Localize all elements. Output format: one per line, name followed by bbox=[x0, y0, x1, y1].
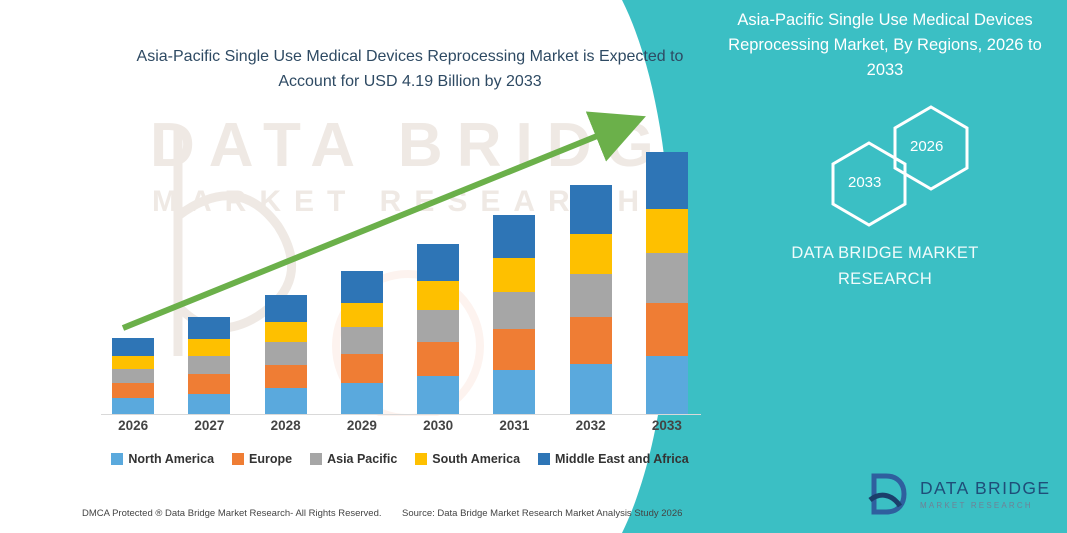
bar-segment bbox=[112, 398, 154, 415]
logo-name: DATA BRIDGE bbox=[920, 478, 1050, 499]
x-axis-label: 2031 bbox=[476, 418, 552, 433]
hexagon-2033-label: 2033 bbox=[848, 174, 881, 191]
stacked-bar bbox=[493, 215, 535, 415]
legend-label: South America bbox=[432, 452, 520, 466]
hexagon-group: 2026 2033 bbox=[820, 105, 980, 205]
legend-swatch bbox=[538, 453, 550, 465]
bar-column bbox=[95, 338, 171, 415]
bar-segment bbox=[570, 185, 612, 234]
bar-segment bbox=[265, 365, 307, 389]
bar-segment bbox=[188, 356, 230, 374]
bar-segment bbox=[188, 339, 230, 356]
bar-segment bbox=[188, 317, 230, 339]
bar-segment bbox=[341, 383, 383, 415]
x-axis-label: 2027 bbox=[171, 418, 247, 433]
data-bridge-logo: DATA BRIDGE MARKET RESEARCH bbox=[866, 472, 1050, 516]
bar-column bbox=[248, 295, 324, 415]
logo-tagline: MARKET RESEARCH bbox=[920, 501, 1050, 510]
legend-item[interactable]: Middle East and Africa bbox=[538, 452, 689, 466]
bar-segment bbox=[112, 369, 154, 383]
x-axis-label: 2033 bbox=[629, 418, 705, 433]
bar-segment bbox=[112, 383, 154, 398]
panel-brand-line2: RESEARCH bbox=[760, 270, 1010, 289]
footer-copyright: DMCA Protected ® Data Bridge Market Rese… bbox=[82, 508, 382, 519]
stacked-bar bbox=[188, 317, 230, 415]
stacked-bar bbox=[417, 244, 459, 415]
bar-segment bbox=[265, 342, 307, 364]
bar-segment bbox=[112, 356, 154, 369]
stacked-bar-chart bbox=[95, 110, 705, 415]
stacked-bar bbox=[265, 295, 307, 415]
panel-brand-line1: DATA BRIDGE MARKET bbox=[760, 244, 1010, 263]
bar-segment bbox=[493, 258, 535, 292]
bar-segment bbox=[417, 342, 459, 376]
bar-segment bbox=[265, 322, 307, 342]
bar-segment bbox=[646, 253, 688, 302]
bar-segment bbox=[570, 234, 612, 274]
chart-legend: North AmericaEuropeAsia PacificSouth Ame… bbox=[95, 452, 705, 466]
legend-swatch bbox=[232, 453, 244, 465]
stacked-bar bbox=[112, 338, 154, 415]
bar-segment bbox=[646, 209, 688, 254]
bar-segment bbox=[570, 364, 612, 415]
x-axis-label: 2026 bbox=[95, 418, 171, 433]
x-axis-label: 2030 bbox=[400, 418, 476, 433]
bar-segment bbox=[188, 374, 230, 393]
bar-column bbox=[400, 244, 476, 415]
bar-column bbox=[476, 215, 552, 415]
bar-segment bbox=[417, 244, 459, 281]
bar-segment bbox=[646, 303, 688, 357]
footer-source: Source: Data Bridge Market Research Mark… bbox=[402, 508, 682, 519]
legend-item[interactable]: Europe bbox=[232, 452, 292, 466]
bar-segment bbox=[493, 215, 535, 258]
logo-mark-icon bbox=[866, 472, 912, 516]
bar-segment bbox=[341, 271, 383, 303]
bar-column bbox=[324, 271, 400, 415]
bar-segment bbox=[417, 281, 459, 310]
x-axis-labels: 20262027202820292030203120322033 bbox=[95, 418, 705, 433]
bar-segment bbox=[265, 388, 307, 415]
legend-label: North America bbox=[128, 452, 214, 466]
legend-swatch bbox=[310, 453, 322, 465]
legend-label: Asia Pacific bbox=[327, 452, 397, 466]
x-axis-label: 2028 bbox=[248, 418, 324, 433]
x-axis-label: 2032 bbox=[553, 418, 629, 433]
bar-column bbox=[553, 185, 629, 415]
bar-segment bbox=[493, 329, 535, 370]
bar-segment bbox=[646, 152, 688, 209]
x-axis-label: 2029 bbox=[324, 418, 400, 433]
bar-segment bbox=[417, 376, 459, 415]
stacked-bar bbox=[570, 185, 612, 415]
legend-swatch bbox=[111, 453, 123, 465]
bar-column bbox=[629, 152, 705, 415]
legend-item[interactable]: Asia Pacific bbox=[310, 452, 397, 466]
bar-segment bbox=[417, 310, 459, 342]
x-axis-line bbox=[101, 414, 701, 415]
stacked-bar bbox=[646, 152, 688, 415]
bar-column bbox=[171, 317, 247, 415]
bar-segment bbox=[570, 317, 612, 364]
bar-columns bbox=[95, 115, 705, 415]
bar-segment bbox=[341, 303, 383, 328]
bar-segment bbox=[112, 338, 154, 356]
panel-title: Asia-Pacific Single Use Medical Devices … bbox=[710, 8, 1060, 83]
legend-swatch bbox=[415, 453, 427, 465]
hexagon-2026-label: 2026 bbox=[910, 138, 943, 155]
legend-item[interactable]: South America bbox=[415, 452, 520, 466]
legend-item[interactable]: North America bbox=[111, 452, 214, 466]
bar-segment bbox=[341, 327, 383, 354]
bar-segment bbox=[570, 274, 612, 317]
bar-segment bbox=[493, 292, 535, 329]
legend-label: Europe bbox=[249, 452, 292, 466]
chart-title: Asia-Pacific Single Use Medical Devices … bbox=[110, 44, 710, 94]
bar-segment bbox=[493, 370, 535, 415]
chart-page: DATA BRIDGE MARKET RESEARCH Asia-Pacific… bbox=[0, 0, 1067, 533]
bar-segment bbox=[646, 356, 688, 415]
bar-segment bbox=[188, 394, 230, 415]
bar-segment bbox=[341, 354, 383, 383]
bar-segment bbox=[265, 295, 307, 322]
legend-label: Middle East and Africa bbox=[555, 452, 689, 466]
stacked-bar bbox=[341, 271, 383, 415]
